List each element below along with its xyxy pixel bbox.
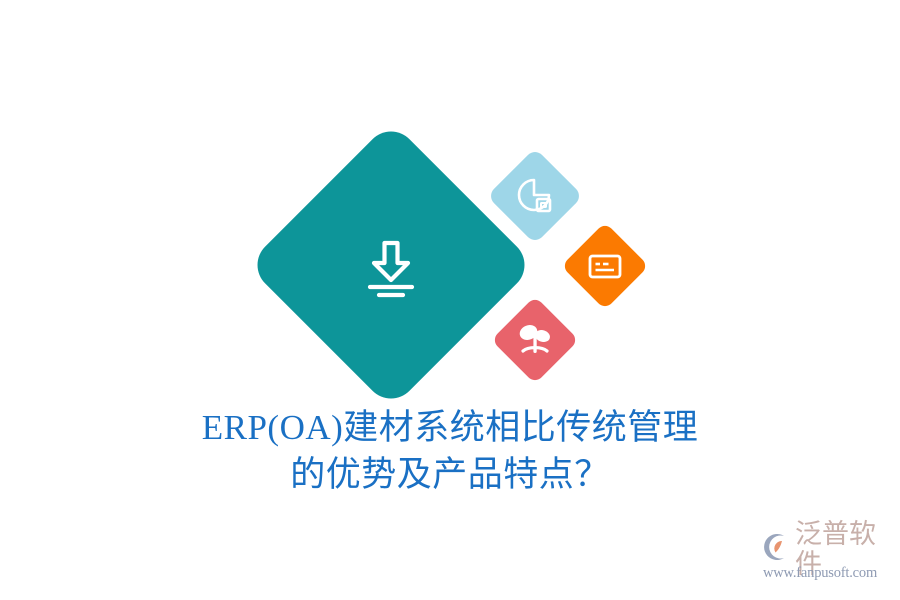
poster-canvas: ERP(OA)建材系统相比传统管理 的优势及产品特点？ 泛普软件 www.fan… (0, 0, 900, 600)
sprout-plant-icon (515, 320, 555, 360)
fanpu-circle-swoosh-icon (762, 532, 792, 567)
page-title: ERP(OA)建材系统相比传统管理 的优势及产品特点？ (0, 404, 900, 498)
diamond-shape-download (247, 121, 535, 409)
form-card-icon (586, 247, 624, 285)
download-arrow-icon (355, 229, 427, 301)
watermark-url-text: www.fanpusoft.com (763, 565, 892, 582)
pie-chart-icon (515, 176, 555, 216)
diamond-shape-card (561, 222, 649, 310)
diamond-shape-sprout (491, 296, 579, 384)
watermark-brand-row: 泛普软件 (762, 532, 892, 566)
diamond-shape-chart (487, 148, 583, 244)
watermark: 泛普软件 www.fanpusoft.com (762, 532, 892, 588)
